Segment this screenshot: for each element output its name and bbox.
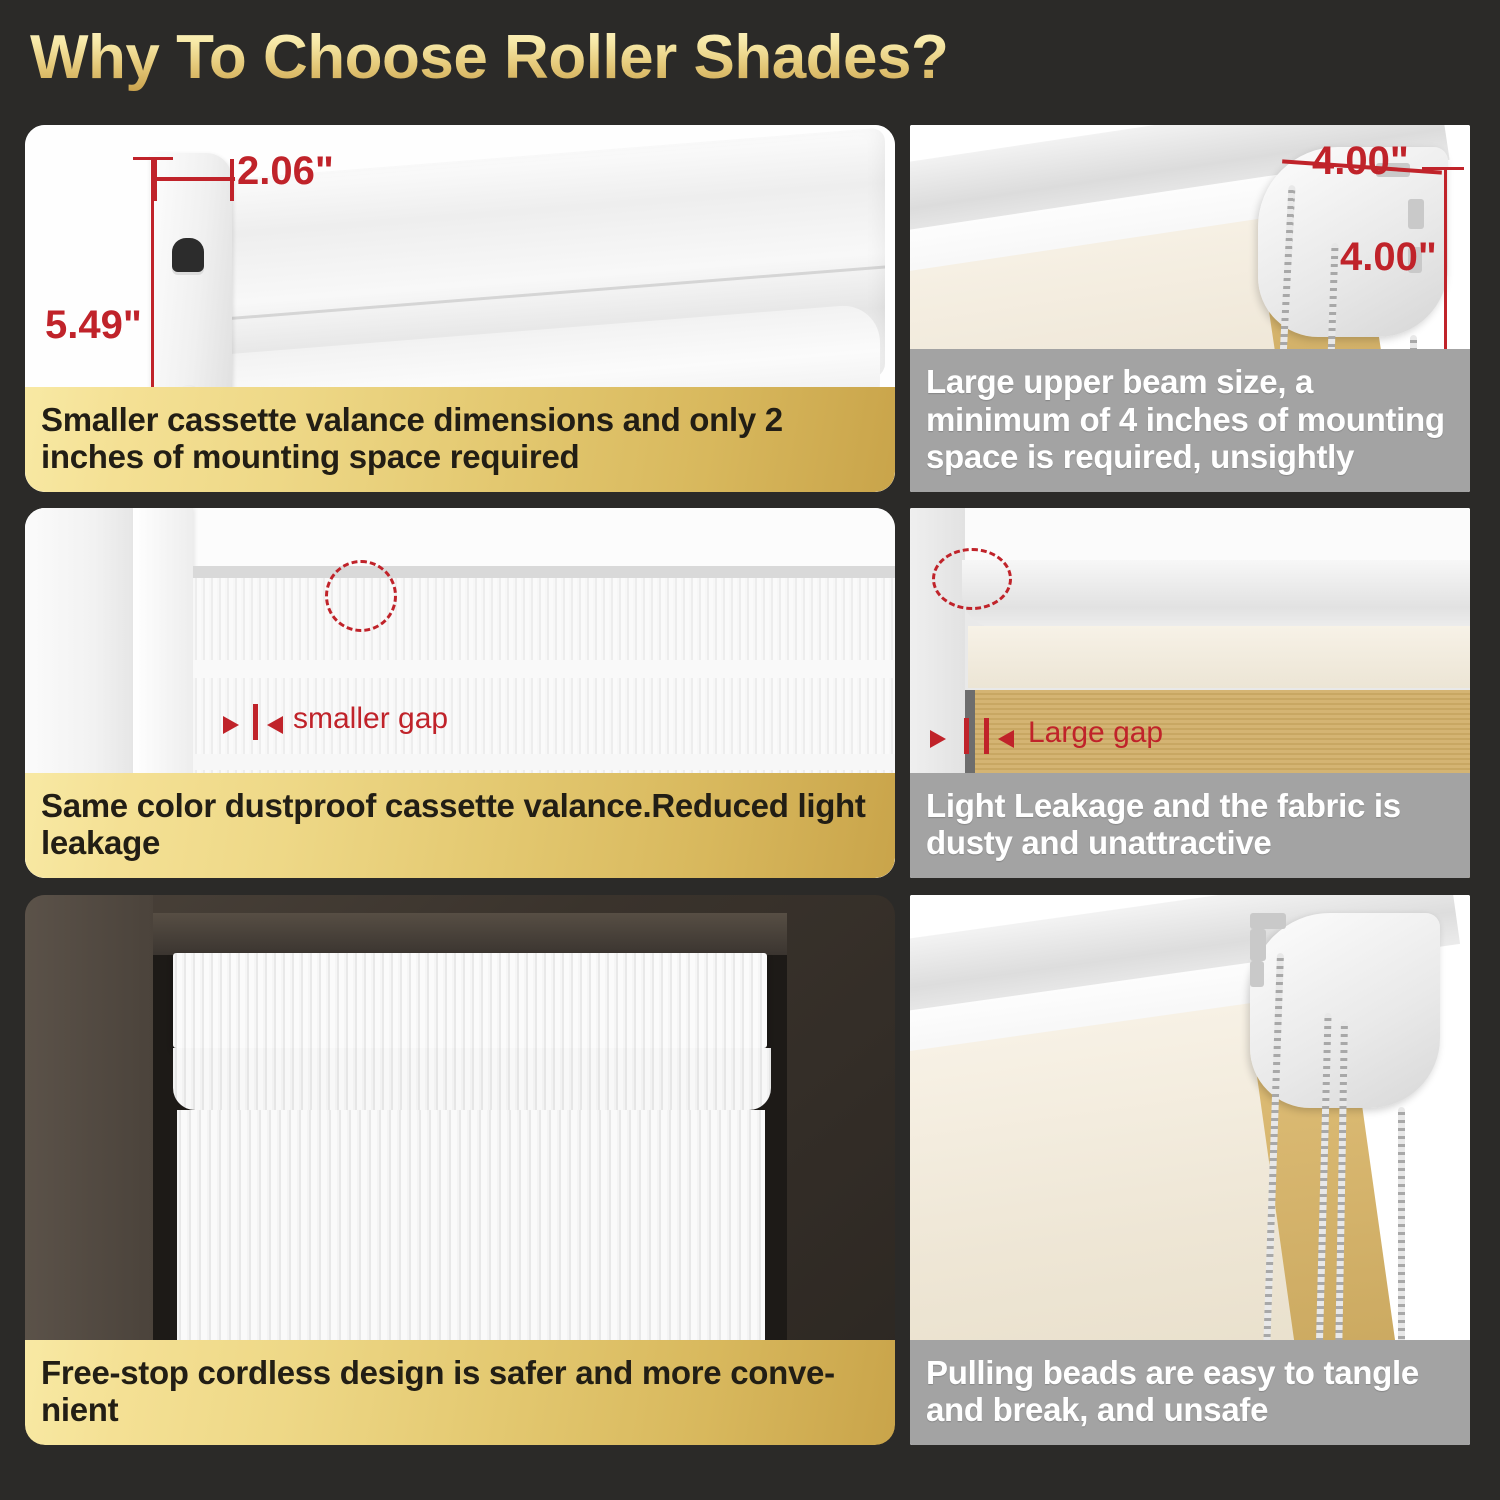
gap-callout-label: Large gap <box>1028 716 1163 750</box>
end-cap-slot-icon <box>172 238 204 272</box>
dim-cap-top <box>1422 167 1464 170</box>
dimension-label-width: 2.06" <box>237 149 334 194</box>
bead-chain-4 <box>1398 1107 1405 1357</box>
bracket-slot2-icon <box>1250 961 1264 987</box>
panel-caption: Smaller cassette valance dimensions and … <box>25 387 895 492</box>
feature-panel-smaller-cassette: 2.06" 5.49" Smaller cassette valance dim… <box>25 125 895 492</box>
feature-panel-large-beam: 4.00" 4.00" Large upper beam size, a min… <box>910 125 1470 492</box>
feature-panel-pulling-beads: Pulling beads are easy to tangle and bre… <box>910 895 1470 1445</box>
gap-measure-bar-1 <box>964 718 969 754</box>
dimension-label-height: 4.00" <box>1340 235 1437 280</box>
panel-caption: Same color dustproof cassette valance.Re… <box>25 773 895 878</box>
feature-panel-large-gap: Large gap Light Leakage and the fabric i… <box>910 508 1470 878</box>
panel-caption: Free-stop cordless design is safer and m… <box>25 1340 895 1445</box>
dimension-label-height: 5.49" <box>45 303 142 348</box>
panel-caption: Large upper beam size, a minimum of 4 in… <box>910 349 1470 492</box>
gap-measure-bar <box>253 704 258 740</box>
roller-tube <box>962 560 1470 628</box>
shade-fabric-cream <box>968 626 1470 688</box>
cassette-valance <box>173 953 767 1048</box>
gap-highlight-circle-icon <box>932 548 1012 610</box>
panel-caption: Pulling beads are easy to tangle and bre… <box>910 1340 1470 1445</box>
bracket-notch-icon <box>1250 913 1286 929</box>
dim-cap-top <box>133 157 173 160</box>
shade-band-1 <box>193 578 895 660</box>
dim-arrow-horizontal <box>153 177 235 181</box>
gap-measure-bar-2 <box>984 718 989 754</box>
panel-caption: Light Leakage and the fabric is dusty an… <box>910 773 1470 878</box>
shade-seam-2 <box>193 754 895 770</box>
feature-panel-cordless-design: Free-stop cordless design is safer and m… <box>25 895 895 1445</box>
shade-seam-1 <box>193 660 895 678</box>
bracket-slot-icon <box>1250 929 1266 961</box>
gap-arrow-right-icon <box>267 716 283 734</box>
dim-line-vertical <box>1444 167 1447 357</box>
gap-callout-label: smaller gap <box>293 702 448 736</box>
gap-arrow-left-icon <box>930 730 946 748</box>
window-header <box>153 913 787 955</box>
gap-arrow-left-icon <box>223 716 239 734</box>
dimension-label-width: 4.00" <box>1312 139 1409 184</box>
valance-lower-lip <box>173 1048 771 1110</box>
bracket-slot-icon <box>1408 199 1424 229</box>
gap-highlight-circle-icon <box>325 560 397 632</box>
page-title: Why To Choose Roller Shades? <box>30 22 948 93</box>
valance-top-edge <box>193 566 895 578</box>
gap-arrow-right-icon <box>998 730 1014 748</box>
feature-panel-smaller-gap: smaller gap Same color dustproof cassett… <box>25 508 895 878</box>
